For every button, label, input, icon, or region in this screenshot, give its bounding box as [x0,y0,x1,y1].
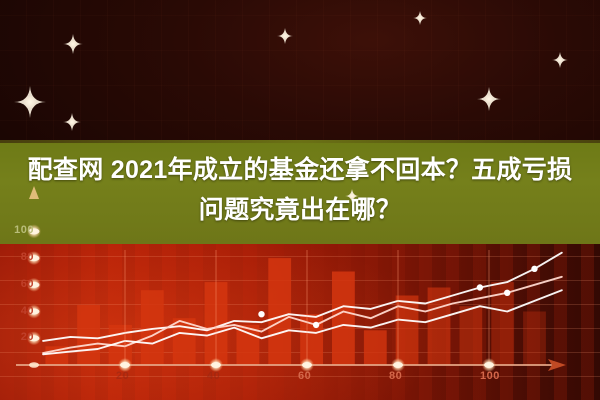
sparkle-icon [413,11,427,25]
x-tick-dot [302,362,312,368]
chart-bar [268,258,291,365]
x-tick-dot [211,362,221,368]
sparkle-icon [277,28,293,44]
chart-bar [459,306,482,365]
x-tick-dot [120,362,130,368]
chart-bar [77,305,100,365]
sparkle-icon [477,87,501,111]
chart-bar [332,272,355,366]
chart-point-marker [504,290,510,296]
x-tick-dot [393,362,403,368]
sparkle-icon [552,52,568,68]
x-tick-dot [484,362,494,368]
chart-point-marker [258,311,264,317]
x-tick-label: 80 [389,370,402,382]
x-tick-label: 20 [116,370,129,382]
origin-dot [29,362,39,368]
y-tick-label: 60 [0,278,34,290]
y-tick-label: 20 [0,331,34,343]
x-tick-label: 40 [207,370,220,382]
x-tick-label: 60 [298,370,311,382]
y-tick-label: 80 [0,251,34,263]
chart-point-marker [477,284,483,290]
x-tick-label: 100 [480,370,500,382]
sparkle-icon [63,113,81,131]
y-axis-arrow [29,186,39,199]
y-tick-label: 40 [0,305,34,317]
sparkle-icon [14,86,46,118]
y-tick-label: 100 [0,224,34,236]
chart-bar [364,330,387,365]
chart-graphic [0,0,600,400]
chart-bar [523,312,546,366]
chart-point-marker [531,266,537,272]
bar-series [45,258,545,365]
screenshot-canvas: 2040608010020406080100 配查网 2021年成立的基金还拿不… [0,0,600,400]
chart-point-marker [313,322,319,328]
sparkle-decorations [14,11,568,203]
sparkle-icon [63,34,83,54]
sparkle-icon [345,189,359,203]
